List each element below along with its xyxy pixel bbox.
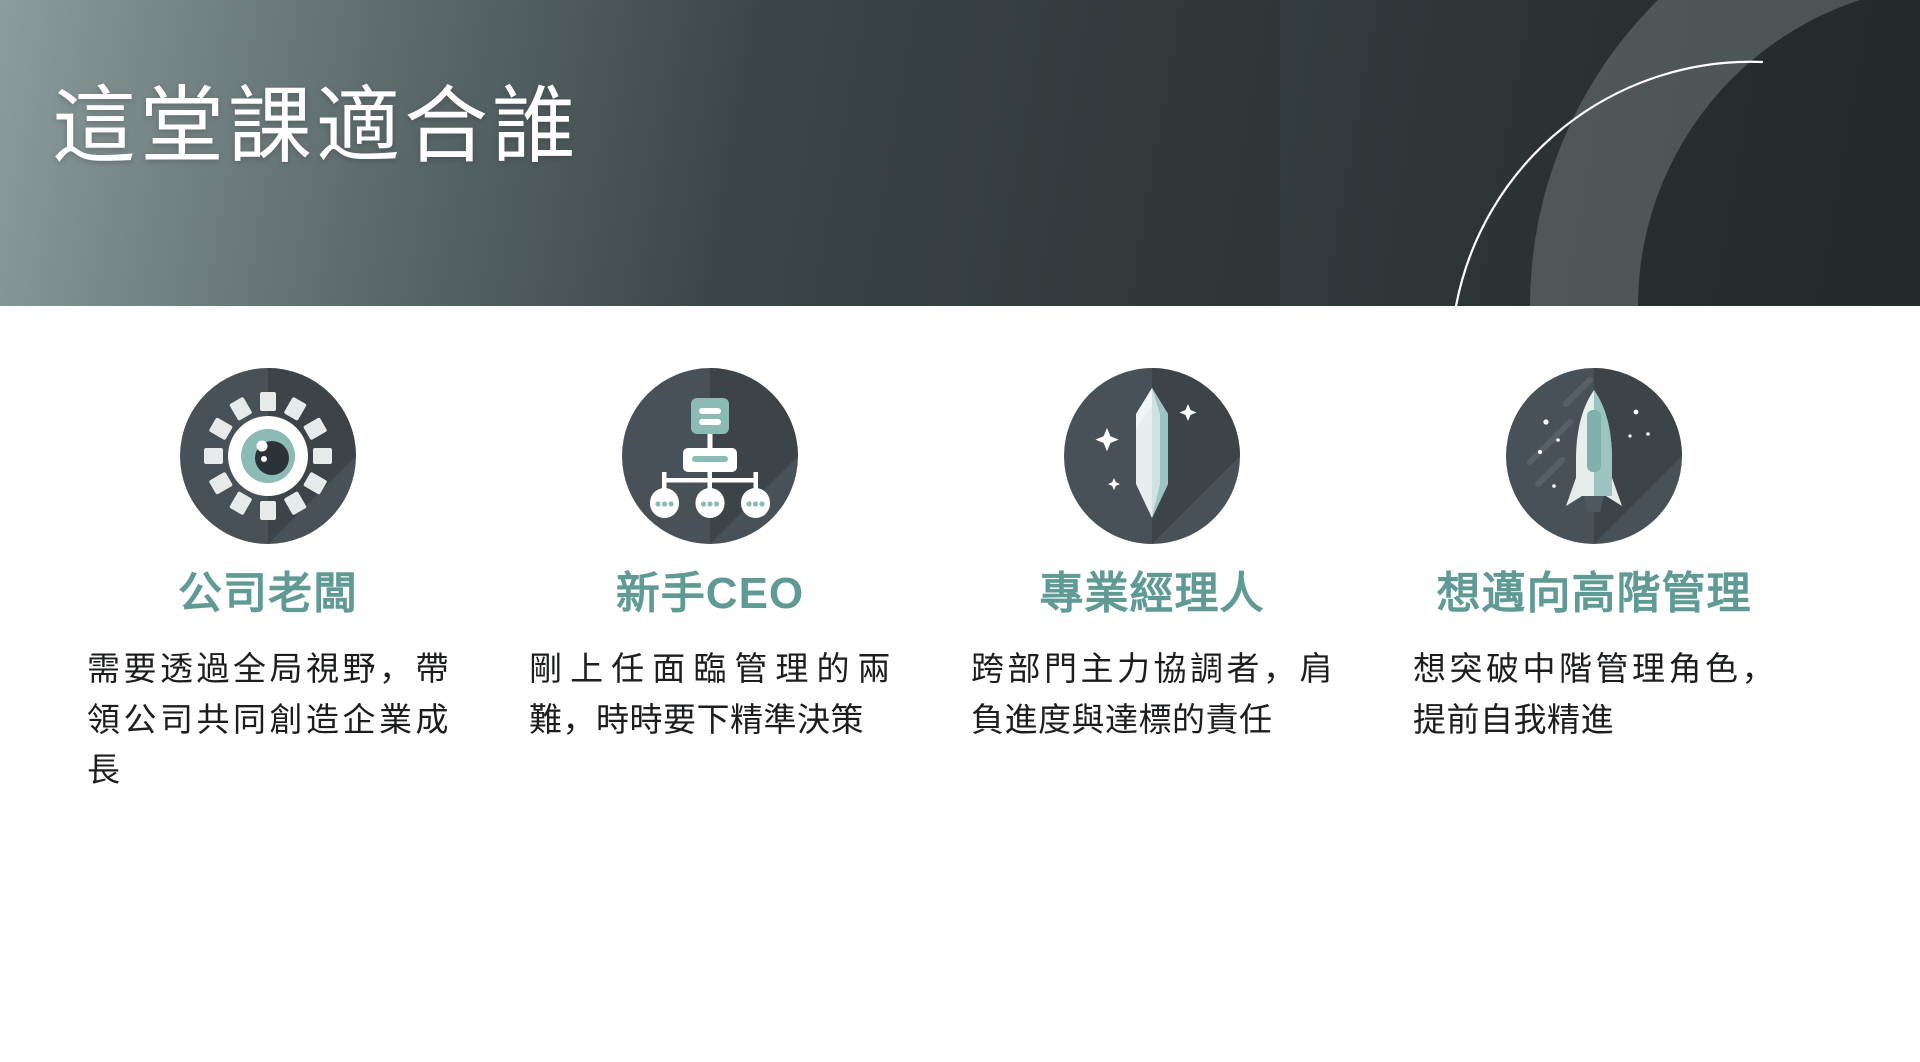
- persona-body: 需要透過全局視野，帶領公司共同創造企業成長: [87, 644, 449, 794]
- page-title: 這堂課適合誰: [52, 84, 580, 172]
- persona-title: 新手CEO: [616, 570, 804, 618]
- org-chart-icon: [620, 366, 800, 546]
- slide-root: 這堂課適合誰: [0, 0, 1920, 1062]
- arc-band-shape: [1530, 0, 1920, 306]
- header-decoration-arc: [1280, 0, 1920, 306]
- persona-body: 想突破中階管理角色，提前自我精進: [1413, 644, 1775, 744]
- gem-crystal-icon: [1062, 366, 1242, 546]
- persona-title: 想邁向高階管理: [1437, 570, 1752, 618]
- header-band: 這堂課適合誰: [0, 0, 1920, 306]
- persona-body: 剛上任面臨管理的兩難，時時要下精準決策: [529, 644, 891, 744]
- persona-card[interactable]: 想邁向高階管理 想突破中階管理角色，提前自我精進: [1364, 306, 1824, 745]
- rocket-icon: [1504, 366, 1684, 546]
- persona-card[interactable]: 專業經理人 跨部門主力協調者，肩負進度與達標的責任: [922, 306, 1382, 745]
- persona-title: 公司老闆: [178, 570, 358, 618]
- persona-title: 專業經理人: [1040, 570, 1265, 618]
- persona-body: 跨部門主力協調者，肩負進度與達標的責任: [971, 644, 1333, 744]
- persona-card-row: 公司老闆 需要透過全局視野，帶領公司共同創造企業成長: [0, 306, 1920, 1062]
- persona-card[interactable]: 新手CEO 剛上任面臨管理的兩難，時時要下精準決策: [480, 306, 940, 745]
- thin-curve-line: [1456, 62, 1762, 306]
- eye-gear-icon: [178, 366, 358, 546]
- persona-card[interactable]: 公司老闆 需要透過全局視野，帶領公司共同創造企業成長: [38, 306, 498, 795]
